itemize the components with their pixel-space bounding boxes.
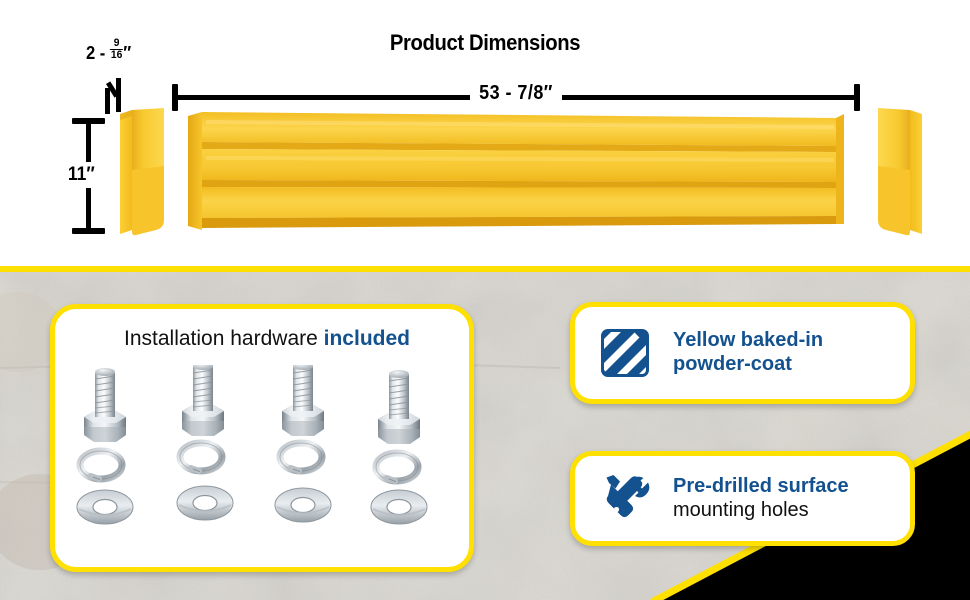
dimension-width-label: 53 - 7/8″ bbox=[206, 82, 825, 105]
page-title: Product Dimensions bbox=[39, 30, 931, 56]
guard-rail-bracket-right bbox=[872, 108, 928, 236]
guard-rail-beam bbox=[186, 112, 846, 234]
wrench-screwdriver-icon bbox=[597, 471, 653, 527]
feature-line2-powder-coat: powder-coat bbox=[673, 353, 823, 377]
feature-line1-powder-coat: Yellow baked-in bbox=[673, 329, 823, 353]
dimension-thickness-unit: ″ bbox=[123, 43, 131, 63]
dimension-thickness-fraction: 916 bbox=[110, 38, 123, 61]
dimension-cap-bottom bbox=[72, 228, 105, 234]
fraction-denominator: 16 bbox=[110, 50, 123, 61]
features-panel: Installation hardware included bbox=[0, 266, 970, 600]
hardware-card-title: Installation hardware included bbox=[55, 327, 479, 351]
feature-line2-mounting-holes: mounting holes bbox=[673, 499, 849, 523]
dimension-height-label: 11″ bbox=[66, 162, 97, 188]
dimension-thickness-whole: 2 - bbox=[86, 43, 110, 63]
dimension-cap-right bbox=[854, 84, 860, 111]
feature-card-powder-coat: Yellow baked-in powder-coat bbox=[570, 302, 915, 404]
feature-text-powder-coat: Yellow baked-in powder-coat bbox=[673, 329, 823, 376]
hardware-title-plain: Installation hardware bbox=[124, 327, 324, 350]
hardware-column-3 bbox=[275, 365, 331, 522]
dimension-width-line: 53 - 7/8″ bbox=[172, 84, 860, 110]
feature-text-mounting-holes: Pre-drilled surface mounting holes bbox=[673, 475, 849, 522]
infographic-page: Product Dimensions 2 - 916″ 53 - 7/8″ 11… bbox=[0, 0, 970, 600]
feature-card-mounting-holes: Pre-drilled surface mounting holes bbox=[570, 451, 915, 546]
hatched-square-icon bbox=[597, 325, 653, 381]
hardware-column-2 bbox=[177, 365, 233, 520]
feature-line1-mounting-holes: Pre-drilled surface bbox=[673, 475, 849, 499]
hardware-column-4 bbox=[371, 370, 427, 524]
arrow-stem-left bbox=[105, 88, 110, 114]
dimension-thickness-label: 2 - 916″ bbox=[86, 38, 131, 64]
hardware-illustration bbox=[73, 365, 461, 555]
hardware-column-1 bbox=[77, 368, 133, 524]
top-yellow-bar bbox=[0, 266, 970, 272]
guard-rail-bracket-left bbox=[114, 108, 170, 236]
installation-hardware-card: Installation hardware included bbox=[50, 304, 474, 572]
hardware-title-bold: included bbox=[324, 327, 410, 350]
product-dimensions-panel: Product Dimensions 2 - 916″ 53 - 7/8″ 11… bbox=[0, 0, 970, 266]
